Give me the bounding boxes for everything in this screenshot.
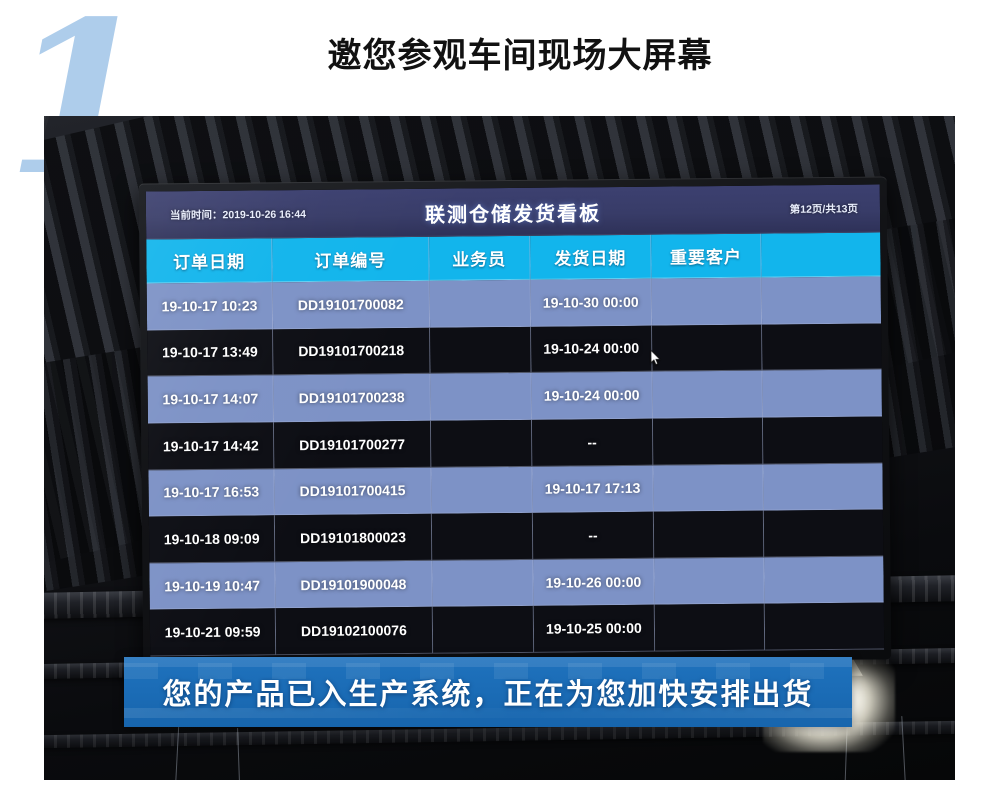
cell-order-no: DD19101700277	[274, 421, 431, 469]
table-row: 19-10-17 10:23 DD19101700082 19-10-30 00…	[147, 276, 881, 330]
cell-extra	[764, 556, 883, 604]
cell-order-no: DD19101800023	[275, 514, 432, 562]
cell-order-date: 19-10-17 14:42	[148, 422, 275, 470]
cell-order-date: 19-10-17 13:49	[147, 329, 274, 377]
cell-ship-date: 19-10-24 00:00	[531, 325, 653, 373]
cell-order-no: DD19102100076	[276, 607, 433, 655]
cell-ship-date: 19-10-26 00:00	[533, 558, 655, 606]
cell-extra	[764, 510, 883, 558]
cell-order-date: 19-10-21 09:59	[150, 609, 277, 657]
column-header-salesperson: 业务员	[429, 236, 531, 281]
cell-key-customer	[653, 417, 764, 465]
cell-key-customer	[654, 511, 765, 559]
table-row: 19-10-17 14:07 DD19101700238 19-10-24 00…	[148, 370, 882, 424]
table-row: 19-10-17 13:49 DD19101700218 19-10-24 00…	[147, 323, 881, 377]
cell-order-no: DD19101900048	[276, 561, 433, 609]
shipment-table: 订单日期 订单编号 业务员 发货日期 重要客户 19-10-17 10:23 D…	[146, 232, 884, 656]
column-header-key-customer: 重要客户	[651, 234, 762, 279]
cell-order-date: 19-10-19 10:47	[149, 562, 276, 610]
cell-order-date: 19-10-17 16:53	[148, 469, 275, 517]
column-header-order-date: 订单日期	[146, 238, 273, 283]
cell-salesperson	[432, 606, 534, 654]
tv-screen: 当前时间：2019-10-26 16:44 联测仓储发货看板 第12页/共13页…	[146, 184, 884, 656]
table-row: 19-10-18 09:09 DD19101800023 --	[149, 510, 883, 564]
cell-order-date: 19-10-17 10:23	[147, 282, 274, 330]
cell-salesperson	[431, 513, 533, 561]
cell-ship-date: --	[533, 512, 655, 560]
cell-key-customer	[652, 324, 763, 372]
cell-order-no: DD19101700415	[275, 467, 432, 515]
tv-bezel: 当前时间：2019-10-26 16:44 联测仓储发货看板 第12页/共13页…	[139, 176, 892, 666]
cell-extra	[765, 603, 884, 651]
cell-ship-date: 19-10-30 00:00	[530, 279, 652, 327]
cell-order-date: 19-10-17 14:07	[148, 376, 275, 424]
mouse-pointer-icon	[650, 350, 661, 366]
cell-salesperson	[430, 326, 532, 374]
cell-key-customer	[652, 371, 763, 419]
cell-key-customer	[652, 278, 763, 326]
current-time-label: 当前时间：2019-10-26 16:44	[170, 206, 306, 222]
cell-order-date: 19-10-18 09:09	[149, 515, 276, 563]
cell-order-no: DD19101700238	[274, 374, 431, 422]
cell-extra	[762, 323, 881, 371]
cell-key-customer	[655, 604, 766, 652]
column-header-ship-date: 发货日期	[530, 235, 652, 280]
cell-extra	[763, 370, 882, 418]
cell-extra	[763, 416, 882, 464]
cell-order-no: DD19101700082	[273, 281, 430, 329]
table-row: 19-10-21 09:59 DD19102100076 19-10-25 00…	[150, 603, 884, 657]
cell-salesperson	[431, 420, 533, 468]
warehouse-dashboard: 当前时间：2019-10-26 16:44 联测仓储发货看板 第12页/共13页…	[146, 184, 884, 656]
cell-ship-date: 19-10-24 00:00	[531, 372, 653, 420]
cell-extra	[763, 463, 882, 511]
cell-key-customer	[654, 557, 765, 605]
wall-mounted-tv: 当前时间：2019-10-26 16:44 联测仓储发货看板 第12页/共13页…	[139, 176, 892, 666]
table-header-row: 订单日期 订单编号 业务员 发货日期 重要客户	[146, 232, 880, 283]
page-title: 邀您参观车间现场大屏幕	[0, 28, 1000, 77]
cell-order-no: DD19101700218	[273, 327, 430, 375]
cell-key-customer	[653, 464, 764, 512]
page-indicator: 第12页/共13页	[790, 201, 858, 217]
cell-ship-date: 19-10-25 00:00	[534, 605, 656, 653]
dashboard-header-bar: 当前时间：2019-10-26 16:44 联测仓储发货看板 第12页/共13页	[146, 184, 880, 239]
cell-salesperson	[429, 280, 531, 328]
cell-salesperson	[431, 466, 533, 514]
table-row: 19-10-17 16:53 DD19101700415 19-10-17 17…	[148, 463, 882, 517]
slogan-banner: 您的产品已入生产系统，正在为您加快安排出货	[124, 657, 852, 727]
table-row: 19-10-17 14:42 DD19101700277 --	[148, 416, 882, 470]
column-header-extra	[761, 232, 880, 277]
cell-ship-date: --	[532, 419, 654, 467]
table-row: 19-10-19 10:47 DD19101900048 19-10-26 00…	[149, 556, 883, 610]
slogan-text: 您的产品已入生产系统，正在为您加快安排出货	[162, 671, 813, 713]
column-header-order-no: 订单编号	[272, 237, 429, 282]
cell-extra	[762, 276, 881, 324]
cell-ship-date: 19-10-17 17:13	[532, 465, 654, 513]
cell-salesperson	[432, 560, 534, 608]
cell-salesperson	[430, 373, 532, 421]
